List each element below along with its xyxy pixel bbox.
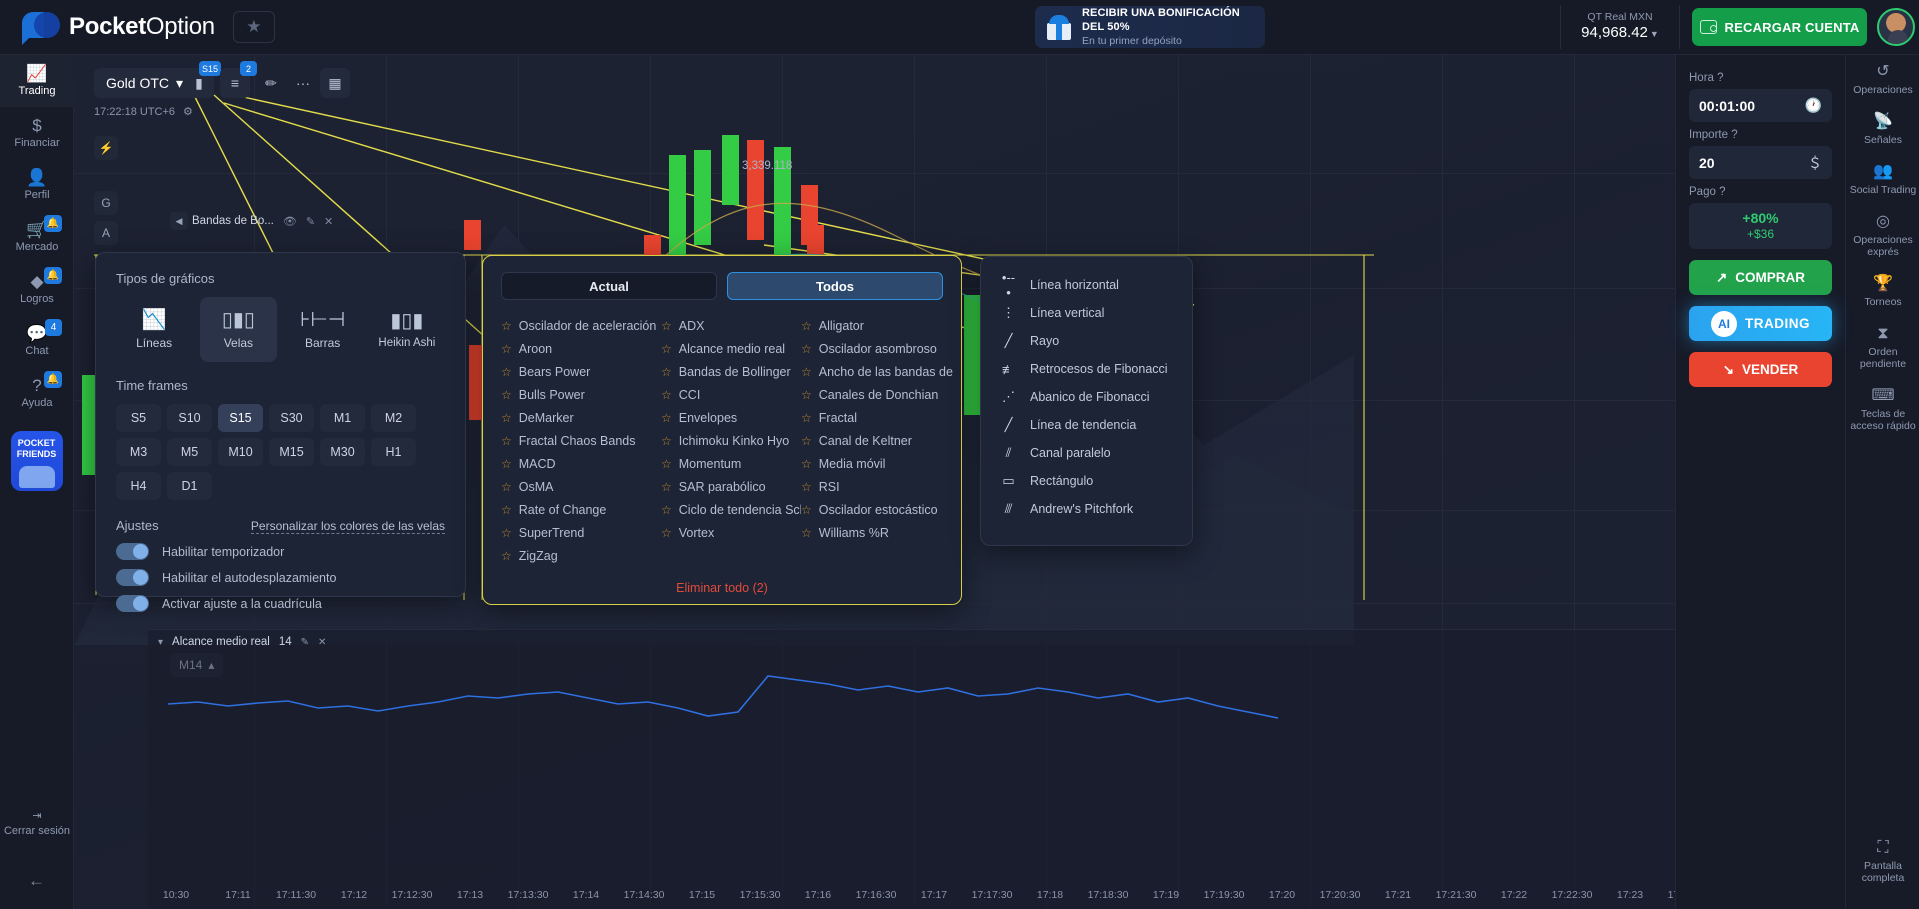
sliders-icon: ≡	[231, 75, 239, 91]
timeframe-m15[interactable]: M15	[269, 438, 314, 466]
timeframe-s5[interactable]: S5	[116, 404, 161, 432]
indicator-label: Fractal Chaos Bands	[519, 434, 636, 448]
chevron-down-icon: ▾	[176, 75, 183, 92]
chevron-down-icon[interactable]: ▼	[1650, 29, 1659, 39]
buy-label: COMPRAR	[1735, 270, 1805, 285]
indicator-label: Bandas de Bollinger	[679, 365, 791, 379]
indicator-item[interactable]: ☆Rate of Change	[501, 498, 661, 521]
indicator-item[interactable]: ☆Fractal	[801, 406, 953, 429]
time-tick: 17:13	[457, 889, 483, 901]
clock-icon[interactable]: 🕐	[1805, 97, 1822, 114]
indicator-item[interactable]: ☆Ichimoku Kinko Hyo	[661, 429, 801, 452]
time-tick: 17:23	[1617, 889, 1643, 901]
chart-line-icon: 📉	[142, 310, 167, 330]
star-icon[interactable]: ☆	[661, 342, 672, 356]
dollar-icon: $	[32, 117, 41, 134]
toggle-switch[interactable]	[116, 595, 149, 612]
grid-layout-icon: ▦	[328, 75, 341, 92]
toggle-autoscroll[interactable]: Habilitar el autodesplazamiento	[116, 569, 445, 586]
promo-title: RECIBIR UNA BONIFICACIÓN DEL 50%	[1082, 6, 1255, 34]
indicator-item[interactable]: ☆Vortex	[661, 521, 801, 544]
indicator-item[interactable]: ☆ADX	[661, 314, 801, 337]
time-tick: 17:21	[1385, 889, 1411, 901]
star-icon[interactable]: ☆	[501, 434, 512, 448]
star-icon[interactable]: ☆	[801, 411, 812, 425]
indicator-item[interactable]: ☆Williams %R	[801, 521, 953, 544]
indicator-item[interactable]: ☆Momentum	[661, 452, 801, 475]
indicator-label: ZigZag	[519, 549, 558, 563]
timeframe-m2[interactable]: M2	[371, 404, 416, 432]
expiry-time-value: 00:01:00	[1699, 98, 1755, 114]
time-tick: 17:17:30	[972, 889, 1013, 901]
draw-tool-label: Rectángulo	[1030, 474, 1093, 488]
help-icon[interactable]: ?	[1717, 72, 1723, 84]
rail-item-orden-pendiente[interactable]: ⧗ Orden pendiente	[1846, 317, 1919, 379]
ray-icon: ╱	[1000, 333, 1017, 349]
close-icon[interactable]: ✕	[324, 215, 333, 228]
draw-tool-label: Línea de tendencia	[1030, 418, 1136, 432]
star-icon[interactable]: ☆	[661, 434, 672, 448]
toggle-timer[interactable]: Habilitar temporizador	[116, 543, 445, 560]
trading-app: PocketOption ★ RECIBIR UNA BONIFICACIÓN …	[0, 0, 1919, 909]
indicator-label: MACD	[519, 457, 556, 471]
draw-tool-horizontal-line[interactable]: •--• Línea horizontal	[991, 271, 1182, 299]
timeframe-s10[interactable]: S10	[167, 404, 212, 432]
indicator-label: Ancho de las bandas de	[819, 365, 953, 379]
toggle-label: Activar ajuste a la cuadrícula	[162, 597, 322, 611]
chart-type-label: Velas	[224, 336, 253, 350]
expiry-time-input[interactable]: 00:01:00 🕐	[1689, 89, 1832, 122]
time-tick: 17:16	[805, 889, 831, 901]
time-tick: 17:21:30	[1436, 889, 1477, 901]
draw-tool-fibonacci-retracement[interactable]: ≢ Retrocesos de Fibonacci	[991, 355, 1182, 383]
ai-trading-label: TRADING	[1745, 316, 1810, 331]
amount-input[interactable]: 20 ＄	[1689, 146, 1832, 179]
left-sidebar: 📈 Trading $ Financiar 👤 Perfil 🔔 🛒 Merca…	[0, 55, 74, 909]
indicator-item[interactable]: ☆ZigZag	[501, 544, 661, 567]
time-tick: 17:22	[1501, 889, 1527, 901]
horizontal-line-icon: •--•	[1000, 270, 1017, 300]
chart-type-label: Heikin Ashi	[378, 337, 435, 349]
brand-name: PocketOption	[69, 13, 215, 41]
sidebar-label-chat: Chat	[25, 345, 48, 357]
chart-type-button[interactable]: ▮ S15	[184, 68, 214, 98]
star-icon[interactable]: ☆	[801, 365, 812, 379]
star-icon[interactable]: ☆	[801, 342, 812, 356]
indicator-item[interactable]: ☆SuperTrend	[501, 521, 661, 544]
draw-tool-label: Línea vertical	[1030, 306, 1104, 320]
timeframe-d1[interactable]: D1	[167, 472, 212, 500]
rail-item-operaciones-expres[interactable]: ◎ Operaciones exprés	[1846, 205, 1919, 267]
star-icon[interactable]: ☆	[501, 319, 512, 333]
star-icon[interactable]: ☆	[801, 526, 812, 540]
indicator-item[interactable]: ☆Oscilador de aceleración	[501, 314, 661, 337]
indicator-label: CCI	[679, 388, 701, 402]
star-icon[interactable]: ☆	[661, 457, 672, 471]
sidebar-item-perfil[interactable]: 👤 Perfil	[0, 159, 74, 211]
brand-name-thin: Option	[146, 13, 215, 40]
indicator-label: SuperTrend	[519, 526, 585, 540]
draw-tool-pitchfork[interactable]: ⫻ Andrew's Pitchfork	[991, 495, 1182, 523]
promo-subtitle: En tu primer depósito	[1082, 34, 1255, 48]
time-tick: 17:12	[341, 889, 367, 901]
indicator-label: Aroon	[519, 342, 552, 356]
chart-type-lineas[interactable]: 📉 Líneas	[116, 297, 192, 362]
ellipsis-icon: ···	[296, 75, 310, 91]
timeframe-h4[interactable]: H4	[116, 472, 161, 500]
deposit-label: RECARGAR CUENTA	[1725, 20, 1860, 35]
draw-tool-label: Abanico de Fibonacci	[1030, 390, 1150, 404]
chart-types-title: Tipos de gráficos	[116, 271, 445, 286]
time-tick: 17:14	[573, 889, 599, 901]
trendline-icon: ╱	[1000, 417, 1017, 433]
star-icon[interactable]: ☆	[501, 365, 512, 379]
drawing-tools-popup[interactable]: •--• Línea horizontal ⋮ Línea vertical ╱…	[980, 256, 1193, 546]
indicator-label: Alligator	[819, 319, 864, 333]
bell-badge-ayuda: 🔔	[44, 371, 62, 388]
rail-label: Operaciones exprés	[1849, 234, 1917, 258]
brand-name-bold: Pocket	[69, 13, 146, 40]
people-group-icon: 👥	[1873, 164, 1893, 180]
toggle-label: Habilitar temporizador	[162, 545, 284, 559]
indicator-label: SAR parabólico	[679, 480, 766, 494]
time-tick: 17:18:30	[1088, 889, 1129, 901]
draw-tool-label: Retrocesos de Fibonacci	[1030, 362, 1168, 376]
gift-icon	[1045, 13, 1073, 41]
help-icon[interactable]: ?	[1719, 186, 1725, 198]
star-icon[interactable]: ☆	[661, 365, 672, 379]
arrow-down-right-icon: ↘	[1723, 362, 1734, 378]
chart-timestamp: 17:22:18 UTC+6	[94, 106, 175, 118]
indicator-label: Rate of Change	[519, 503, 607, 517]
star-icon[interactable]: ☆	[501, 526, 512, 540]
active-indicator-chip[interactable]: ◀ Bandas de Bo... 👁 ✎ ✕	[192, 210, 333, 232]
pitchfork-icon: ⫻	[1000, 501, 1017, 517]
indicator-item[interactable]: ☆Alligator	[801, 314, 953, 337]
timeframes-title: Time frames	[116, 378, 445, 393]
sidebar-item-trading[interactable]: 📈 Trading	[0, 55, 74, 107]
bonus-promo-banner[interactable]: RECIBIR UNA BONIFICACIÓN DEL 50% En tu p…	[1035, 6, 1265, 48]
buy-button[interactable]: ↗ COMPRAR	[1689, 260, 1832, 295]
indicator-item[interactable]: ☆Fractal Chaos Bands	[501, 429, 661, 452]
timeframe-h1[interactable]: H1	[371, 438, 416, 466]
draw-tool-ray[interactable]: ╱ Rayo	[991, 327, 1182, 355]
tab-actual[interactable]: Actual	[501, 272, 717, 300]
help-icon[interactable]: ?	[1731, 129, 1737, 141]
indicators-popup[interactable]: Actual Todos ☆Oscilador de aceleración ☆…	[482, 255, 962, 605]
keyboard-icon: ⌨	[1871, 388, 1894, 404]
account-type-label: QT Real MXN	[1587, 11, 1652, 24]
rectangle-icon: ▭	[1000, 473, 1017, 489]
indicator-label: Alcance medio real	[679, 342, 785, 356]
indicator-label: Oscilador estocástico	[819, 503, 938, 517]
chat-count-badge: 4	[45, 319, 62, 336]
symbol-selector[interactable]: Gold OTC ▾	[94, 68, 195, 98]
star-icon[interactable]: ☆	[661, 480, 672, 494]
toggle-switch[interactable]	[116, 569, 149, 586]
time-tick: 17:11:30	[276, 889, 316, 901]
time-tick: 17:20	[1269, 889, 1295, 901]
collapse-sidebar-icon[interactable]: ←	[28, 871, 45, 891]
sell-button[interactable]: ↘ VENDER	[1689, 352, 1832, 387]
star-icon[interactable]: ☆	[501, 549, 512, 563]
draw-tool-label: Rayo	[1030, 334, 1059, 348]
indicator-item[interactable]: ☆Aroon	[501, 337, 661, 360]
star-icon[interactable]: ☆	[501, 411, 512, 425]
logout-label: Cerrar sesión	[4, 825, 70, 837]
amount-label-text: Importe	[1689, 129, 1728, 141]
star-icon[interactable]: ☆	[661, 319, 672, 333]
time-tick: 17:20:30	[1320, 889, 1361, 901]
star-icon[interactable]: ☆	[801, 457, 812, 471]
indicator-item[interactable]: ☆Bandas de Bollinger	[661, 360, 801, 383]
time-field-label: Hora ?	[1689, 72, 1832, 84]
time-tick: 17:18	[1037, 889, 1063, 901]
rail-label: Señales	[1864, 134, 1902, 146]
eye-icon[interactable]: 👁	[283, 215, 297, 228]
ai-trading-button[interactable]: AI TRADING	[1689, 306, 1832, 341]
timeframe-m1[interactable]: M1	[320, 404, 365, 432]
rail-label: Social Trading	[1850, 184, 1917, 196]
dollar-circle-icon[interactable]: ＄	[1808, 153, 1822, 173]
timeframe-m30[interactable]: M30	[320, 438, 365, 466]
star-icon[interactable]: ☆	[801, 388, 812, 402]
timeframe-s30[interactable]: S30	[269, 404, 314, 432]
payout-label-text: Pago	[1689, 186, 1716, 198]
timeframe-m10[interactable]: M10	[218, 438, 263, 466]
indicator-label: Bulls Power	[519, 388, 585, 402]
rail-item-social-trading[interactable]: 👥 Social Trading	[1846, 155, 1919, 205]
star-icon[interactable]: ☆	[661, 411, 672, 425]
star-icon[interactable]: ☆	[801, 319, 812, 333]
logout-icon: ⇥	[32, 809, 41, 822]
amount-field-label: Importe ?	[1689, 129, 1832, 141]
indicator-label: Envelopes	[679, 411, 737, 425]
draw-tool-label: Andrew's Pitchfork	[1030, 502, 1133, 516]
rail-label: Torneos	[1864, 296, 1901, 308]
edit-pencil-icon[interactable]: ✎	[306, 215, 315, 228]
rail-item-torneos[interactable]: 🏆 Torneos	[1846, 267, 1919, 317]
time-tick: 17:19	[1153, 889, 1179, 901]
rail-label: Operaciones	[1853, 84, 1913, 96]
payout-field-label: Pago ?	[1689, 186, 1832, 198]
favorites-star-icon[interactable]: ★	[233, 11, 275, 43]
rail-item-teclas-acceso-rapido[interactable]: ⌨ Teclas de acceso rápido	[1846, 379, 1919, 441]
indicator-item[interactable]: ☆RSI	[801, 475, 953, 498]
sidebar-item-mercado[interactable]: 🔔 🛒 Mercado	[0, 211, 74, 263]
indicator-item[interactable]: ☆Oscilador estocástico	[801, 498, 953, 521]
indicator-item[interactable]: ☆SAR parabólico	[661, 475, 801, 498]
indicator-item[interactable]: ☆Bulls Power	[501, 383, 661, 406]
timeframe-m5[interactable]: M5	[167, 438, 212, 466]
heikin-ashi-icon: ▮▯▮	[390, 311, 423, 331]
help-circle-icon: ?	[32, 377, 41, 394]
time-tick: 17:11	[225, 889, 251, 901]
indicator-label: Bears Power	[519, 365, 591, 379]
indicator-item[interactable]: ☆Ancho de las bandas de	[801, 360, 953, 383]
indicator-item[interactable]: ☆Canal de Keltner	[801, 429, 953, 452]
pocket-friends-promo[interactable]: POCKET FRIENDS	[11, 431, 63, 491]
layout-grid-button[interactable]: ▦	[320, 68, 350, 98]
chart-type-barras[interactable]: ⊦⊢⊣ Barras	[285, 297, 361, 362]
fullscreen-icon: ⛶	[1877, 840, 1888, 856]
indicator-item[interactable]: ☆Bears Power	[501, 360, 661, 383]
indicator-item[interactable]: ☆Oscilador asombroso	[801, 337, 953, 360]
star-icon[interactable]: ☆	[501, 342, 512, 356]
chart-type-heikin-ashi[interactable]: ▮▯▮ Heikin Ashi	[369, 297, 445, 362]
sidebar-item-financiar[interactable]: $ Financiar	[0, 107, 74, 159]
star-icon[interactable]: ☆	[801, 480, 812, 494]
rail-item-operaciones[interactable]: ↺ Operaciones	[1846, 55, 1919, 105]
brand-logo[interactable]: PocketOption	[22, 10, 215, 44]
letter-g-button[interactable]: G	[94, 191, 118, 215]
trophy-icon: 🏆	[1873, 276, 1893, 292]
rail-label: Orden pendiente	[1849, 346, 1917, 370]
time-tick: 17:16:30	[856, 889, 897, 901]
amount-value: 20	[1699, 155, 1715, 171]
indicator-chip-label: Bandas de Bo...	[192, 215, 274, 227]
account-balance[interactable]: QT Real MXN 94,968.42▼	[1560, 5, 1680, 49]
sell-label: VENDER	[1742, 362, 1798, 377]
rail-label: Pantalla completa	[1849, 860, 1917, 884]
letter-a-button[interactable]: A	[94, 221, 118, 245]
sidebar-item-ayuda[interactable]: 🔔 ? Ayuda	[0, 367, 74, 419]
chart-types-popup[interactable]: Tipos de gráficos 📉 Líneas ▯▮▯ Velas ⊦⊢⊣…	[95, 252, 466, 597]
sidebar-label-financiar: Financiar	[14, 137, 59, 149]
draw-tool-fibonacci-fan[interactable]: ⋰ Abanico de Fibonacci	[991, 383, 1182, 411]
time-tick: 17:19:30	[1204, 889, 1245, 901]
settings-title: Ajustes	[116, 518, 159, 533]
toggle-label: Habilitar el autodesplazamiento	[162, 571, 336, 585]
star-icon[interactable]: ☆	[801, 503, 812, 517]
right-sidebar: ↺ Operaciones 📡 Señales 👥 Social Trading…	[1845, 55, 1919, 909]
diamond-icon: ◆	[30, 273, 43, 290]
fibonacci-retracement-icon: ≢	[1000, 362, 1017, 377]
parallel-channel-icon: ⫽	[1000, 445, 1017, 461]
user-avatar[interactable]	[1877, 8, 1915, 46]
star-icon[interactable]: ☆	[501, 457, 512, 471]
rail-item-fullscreen[interactable]: ⛶ Pantalla completa	[1846, 831, 1919, 893]
vertical-line-icon: ⋮	[1000, 305, 1017, 321]
star-icon[interactable]: ☆	[501, 480, 512, 494]
indicator-label: Ichimoku Kinko Hyo	[679, 434, 789, 448]
draw-tool-trendline[interactable]: ╱ Línea de tendencia	[991, 411, 1182, 439]
atr-line-series	[148, 646, 1845, 736]
time-tick: 17:15:30	[740, 889, 781, 901]
indicator-item[interactable]: ☆DeMarker	[501, 406, 661, 429]
chevron-left-icon[interactable]: ◀	[170, 212, 188, 230]
draw-tool-rectangle[interactable]: ▭ Rectángulo	[991, 467, 1182, 495]
trade-panel: Hora ? 00:01:00 🕐 Importe ? 20 ＄ Pago ? …	[1675, 55, 1845, 909]
indicator-label: Williams %R	[819, 526, 889, 540]
sidebar-item-chat[interactable]: 4 💬 Chat	[0, 315, 74, 367]
chart-type-velas[interactable]: ▯▮▯ Velas	[200, 297, 276, 362]
ai-badge-icon: AI	[1711, 311, 1737, 337]
star-icon[interactable]: ☆	[661, 388, 672, 402]
deposit-button[interactable]: RECARGAR CUENTA	[1692, 8, 1867, 46]
draw-tool-vertical-line[interactable]: ⋮ Línea vertical	[991, 299, 1182, 327]
toggle-switch[interactable]	[116, 543, 149, 560]
customize-candle-colors-link[interactable]: Personalizar los colores de las velas	[251, 519, 445, 534]
bell-badge-logros: 🔔	[44, 267, 62, 284]
payout-amount: +$36	[1747, 227, 1774, 242]
sidebar-label-ayuda: Ayuda	[22, 397, 53, 409]
star-icon[interactable]: ☆	[501, 388, 512, 402]
candlestick-icon: ▯▮▯	[222, 310, 255, 330]
lightning-icon[interactable]: ⚡	[94, 136, 118, 160]
indicator-grid: ☆Oscilador de aceleración ☆Aroon ☆Bears …	[501, 314, 943, 567]
timeframe-s15[interactable]: S15	[218, 404, 263, 432]
sidebar-item-logros[interactable]: 🔔 ◆ Logros	[0, 263, 74, 315]
chart-type-badge: S15	[199, 61, 221, 76]
indicator-item[interactable]: ☆Canales de Donchian	[801, 383, 953, 406]
user-icon: 👤	[26, 169, 47, 186]
indicator-label: Canal de Keltner	[819, 434, 912, 448]
draw-tool-label: Canal paralelo	[1030, 446, 1111, 460]
indicators-button[interactable]: ≡ 2	[220, 68, 250, 98]
pocketoption-logo-icon	[22, 10, 60, 44]
atr-indicator-pane[interactable]: ▾ Alcance medio real 14 ✎ ✕ 0.016 0.014 …	[148, 629, 1845, 909]
draw-tool-parallel-channel[interactable]: ⫽ Canal paralelo	[991, 439, 1182, 467]
indicator-label: Vortex	[679, 526, 714, 540]
time-tick: 17:13:30	[508, 889, 549, 901]
indicator-label: Fractal	[819, 411, 857, 425]
time-tick: 17:22:30	[1552, 889, 1593, 901]
indicator-item[interactable]: ☆Alcance medio real	[661, 337, 801, 360]
time-tick: 17:15	[689, 889, 715, 901]
indicator-item[interactable]: ☆Ciclo de tendencia Scha	[661, 498, 801, 521]
chart-type-label: Barras	[305, 336, 340, 350]
rail-item-senales[interactable]: 📡 Señales	[1846, 105, 1919, 155]
target-icon: ◎	[1876, 214, 1890, 230]
indicator-item[interactable]: ☆OsMA	[501, 475, 661, 498]
star-icon[interactable]: ☆	[501, 503, 512, 517]
draw-tool-label: Línea horizontal	[1030, 278, 1119, 292]
more-options-button[interactable]: ···	[288, 68, 318, 98]
sidebar-label-logros: Logros	[20, 293, 54, 305]
pencil-icon: ✏	[265, 75, 277, 92]
star-icon[interactable]: ☆	[661, 526, 672, 540]
indicator-tabs: Actual Todos	[501, 272, 943, 300]
tab-todos[interactable]: Todos	[727, 272, 943, 300]
indicator-label: Momentum	[679, 457, 742, 471]
indicator-label: Canales de Donchian	[819, 388, 939, 402]
fibonacci-fan-icon: ⋰	[1000, 389, 1017, 405]
indicator-label: DeMarker	[519, 411, 574, 425]
pocket-friends-label: POCKET FRIENDS	[17, 438, 57, 459]
timeframe-m3[interactable]: M3	[116, 438, 161, 466]
time-label-text: Hora	[1689, 72, 1714, 84]
draw-tools-button[interactable]: ✏	[256, 68, 286, 98]
indicator-item[interactable]: ☆Envelopes	[661, 406, 801, 429]
logout-button[interactable]: ⇥ Cerrar sesión	[0, 809, 74, 837]
chart-timestamp-row: 17:22:18 UTC+6 ⚙	[94, 105, 193, 118]
indicator-item[interactable]: ☆CCI	[661, 383, 801, 406]
candlestick-icon: ▮	[195, 75, 203, 92]
indicator-item[interactable]: ☆Media móvil	[801, 452, 953, 475]
indicator-item[interactable]: ☆MACD	[501, 452, 661, 475]
rail-label: Teclas de acceso rápido	[1849, 408, 1917, 432]
delete-all-indicators-link[interactable]: Eliminar todo (2)	[501, 581, 943, 595]
gear-icon[interactable]: ⚙	[183, 105, 193, 118]
star-icon[interactable]: ☆	[801, 434, 812, 448]
bar-chart-icon: ⊦⊢⊣	[300, 310, 345, 330]
toggle-snap-grid[interactable]: Activar ajuste a la cuadrícula	[116, 595, 445, 612]
wallet-icon	[1700, 20, 1717, 34]
star-icon[interactable]: ☆	[661, 503, 672, 517]
indicator-label: ADX	[679, 319, 705, 333]
chart-type-label: Líneas	[136, 336, 172, 350]
